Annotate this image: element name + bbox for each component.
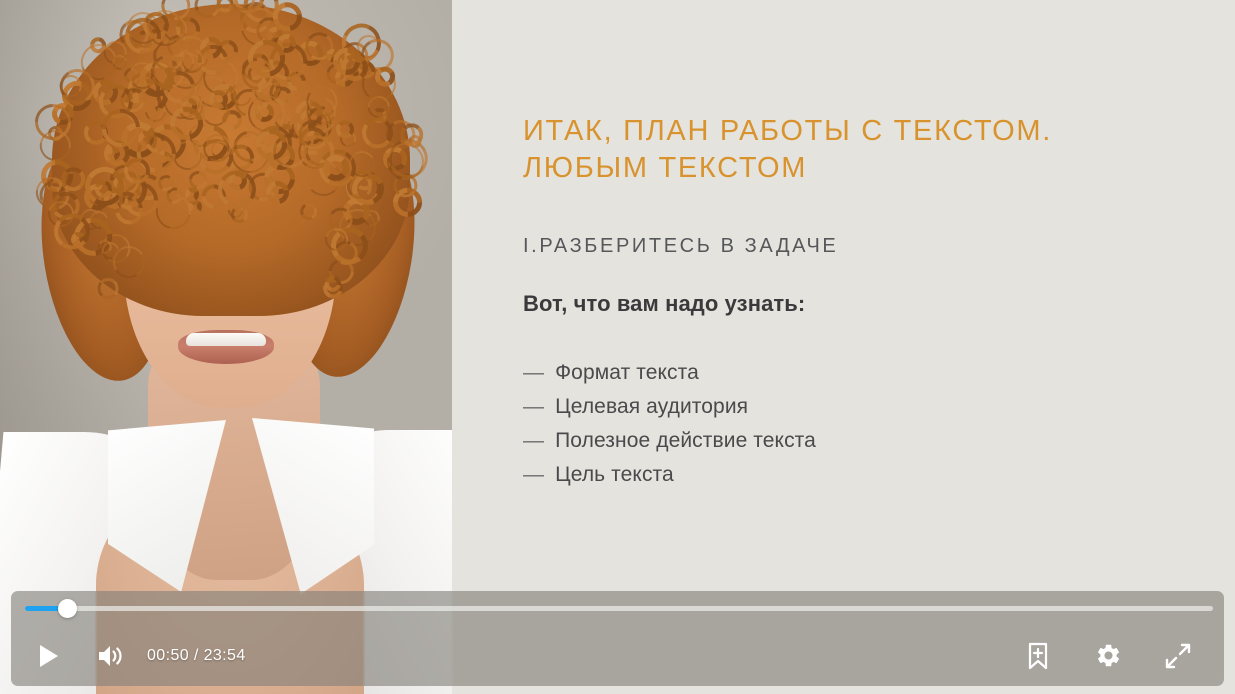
bullet-dash: —	[523, 390, 544, 424]
progress-handle[interactable]	[58, 599, 77, 618]
bookmark-add-icon	[1026, 642, 1050, 670]
bullet-text: Цель текста	[555, 458, 674, 492]
slide-panel: ИТАК, ПЛАН РАБОТЫ С ТЕКСТОМ. ЛЮБЫМ ТЕКСТ…	[452, 0, 1235, 694]
video-player: ИТАК, ПЛАН РАБОТЫ С ТЕКСТОМ. ЛЮБЫМ ТЕКСТ…	[0, 0, 1235, 694]
bullet-text: Полезное действие текста	[555, 424, 816, 458]
settings-button[interactable]	[1088, 636, 1128, 676]
volume-button[interactable]	[91, 636, 131, 676]
settings-gear-icon	[1095, 642, 1122, 669]
play-icon	[38, 644, 60, 668]
slide-bullet-list: —Формат текста—Целевая аудитория—Полезно…	[523, 356, 1223, 492]
controls-bottom-row: 00:50 / 23:54	[11, 625, 1224, 686]
volume-icon	[97, 644, 125, 668]
progress-scrubber[interactable]	[25, 606, 1213, 611]
slide-subtitle: I.РАЗБЕРИТЕСЬ В ЗАДАЧЕ	[523, 233, 1183, 259]
slide-bullet-item: —Цель текста	[523, 458, 1223, 492]
bookmark-add-button[interactable]	[1018, 636, 1058, 676]
controls-right-group	[1018, 625, 1198, 686]
slide-bullet-item: —Целевая аудитория	[523, 390, 1223, 424]
bullet-dash: —	[523, 424, 544, 458]
teeth	[186, 333, 266, 346]
video-frame[interactable]	[0, 0, 452, 694]
bullet-dash: —	[523, 458, 544, 492]
fullscreen-button[interactable]	[1158, 636, 1198, 676]
time-display: 00:50 / 23:54	[147, 647, 246, 665]
slide-lead-text: Вот, что вам надо узнать:	[523, 290, 1183, 318]
progress-row[interactable]	[11, 591, 1224, 625]
fullscreen-expand-icon	[1165, 643, 1191, 669]
bullet-text: Формат текста	[555, 356, 699, 390]
bullet-dash: —	[523, 356, 544, 390]
bullet-text: Целевая аудитория	[555, 390, 748, 424]
slide-bullet-item: —Формат текста	[523, 356, 1223, 390]
controls-left-group: 00:50 / 23:54	[29, 625, 246, 686]
slide-bullet-item: —Полезное действие текста	[523, 424, 1223, 458]
play-button[interactable]	[29, 636, 69, 676]
slide-title: ИТАК, ПЛАН РАБОТЫ С ТЕКСТОМ. ЛЮБЫМ ТЕКСТ…	[523, 113, 1203, 187]
player-controls: 00:50 / 23:54	[11, 591, 1224, 686]
